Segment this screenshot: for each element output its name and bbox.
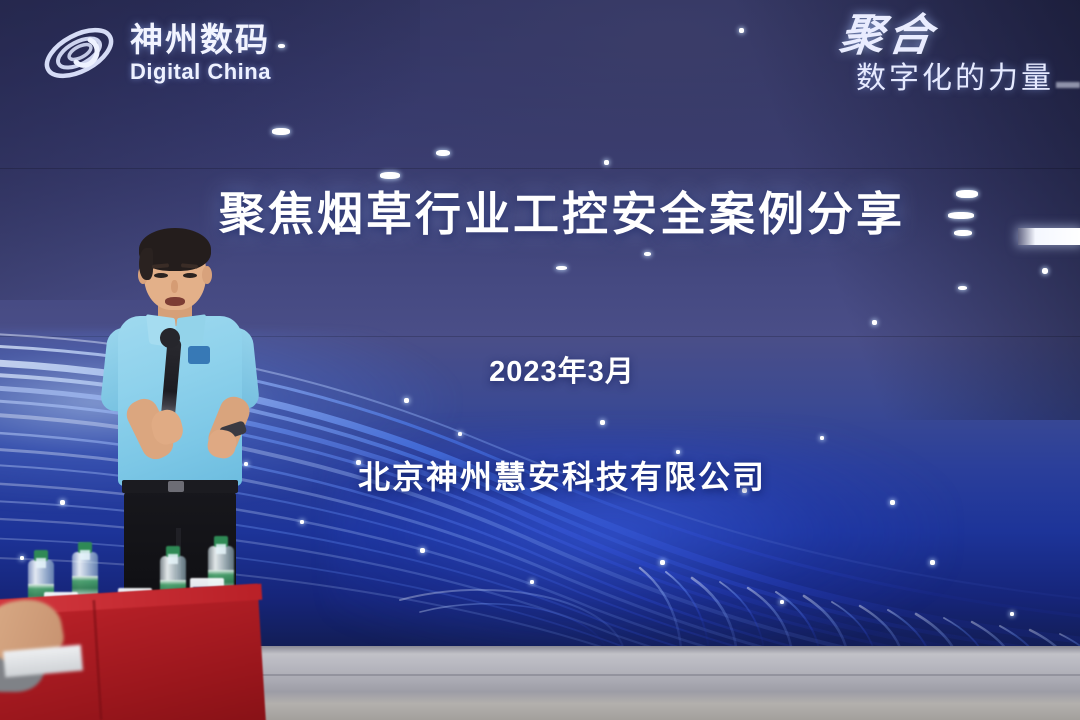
bottle-neck xyxy=(216,544,226,554)
bottle-neck xyxy=(36,558,46,568)
speaker-presenter xyxy=(96,228,286,620)
brand-name-cn: 神州数码 xyxy=(130,23,271,56)
screen-panel-seam xyxy=(0,168,1080,169)
speaker-hair-sideburn xyxy=(139,248,153,280)
slide-date-text: 2023年3月 xyxy=(445,356,635,388)
speaker-belt-buckle xyxy=(168,481,184,492)
slogan-subline: 数字化的力量 xyxy=(840,64,1054,94)
slogan-headline: 聚合 xyxy=(837,14,938,58)
spiral-swoosh-logo-icon xyxy=(40,22,118,84)
slide-company-text: 北京神州慧安科技有限公司 xyxy=(314,459,766,495)
brand-name-en: Digital China xyxy=(130,61,271,83)
speaker-ear-right xyxy=(202,266,212,284)
speaker-shirt-logo-badge xyxy=(188,346,210,364)
speaker-nose xyxy=(171,280,178,293)
screen-edge-glint xyxy=(1056,82,1080,88)
speaker-mouth xyxy=(165,297,185,306)
speaker-eye-right xyxy=(183,273,197,278)
speaker-eye-left xyxy=(154,273,168,278)
digital-china-logo: 神州数码 Digital China xyxy=(40,22,271,84)
conference-photo: 神州数码 Digital China 聚合 数字化的力量 聚焦烟草行业工控安全案… xyxy=(0,0,1080,720)
bottle-neck xyxy=(80,550,90,560)
bottle-neck xyxy=(168,554,178,564)
event-slogan: 聚合 数字化的力量 xyxy=(840,14,1054,94)
